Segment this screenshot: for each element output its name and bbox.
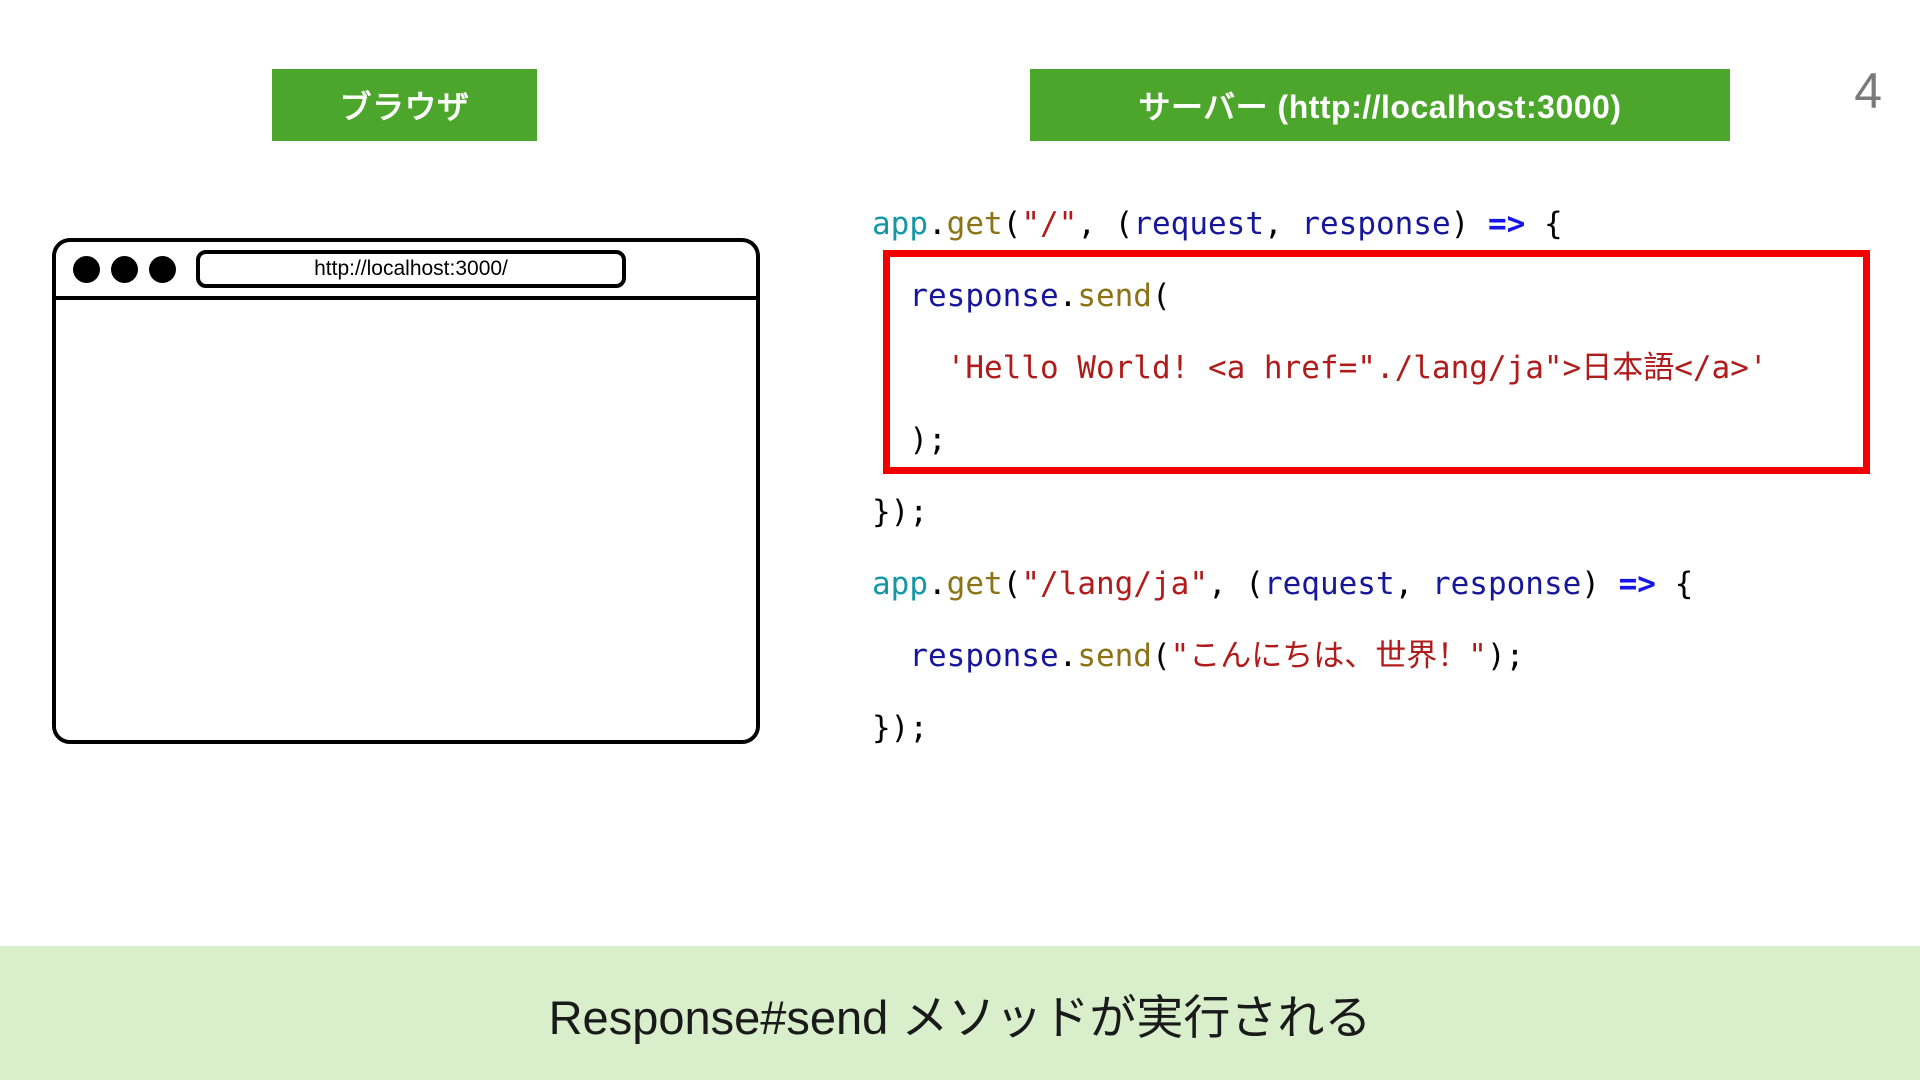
code-token: request: [1133, 206, 1264, 242]
code-token: .: [1059, 278, 1078, 314]
close-dot-icon[interactable]: [73, 256, 100, 283]
code-token: 'Hello World! <a href="./lang/ja">日本語</a…: [947, 350, 1768, 386]
code-token: ): [1581, 566, 1618, 602]
address-bar-value: http://localhost:3000/: [314, 257, 508, 281]
code-token: response: [1301, 206, 1450, 242]
code-token: "/": [1021, 206, 1077, 242]
code-line: });: [872, 476, 1882, 548]
code-line: app.get("/lang/ja", (request, response) …: [872, 548, 1882, 620]
code-line: response.send("こんにちは、世界！");: [872, 620, 1882, 692]
code-token: =>: [1619, 566, 1656, 602]
code-line: });: [872, 692, 1882, 764]
browser-window-mockup: http://localhost:3000/: [52, 238, 760, 744]
minimize-dot-icon[interactable]: [111, 256, 138, 283]
code-token: (: [1003, 566, 1022, 602]
server-code-block: app.get("/", (request, response) => { re…: [872, 188, 1882, 764]
code-token: response: [1432, 566, 1581, 602]
code-token: [872, 350, 947, 386]
code-token: ,: [1395, 566, 1432, 602]
address-bar[interactable]: http://localhost:3000/: [196, 250, 626, 288]
browser-titlebar: http://localhost:3000/: [56, 242, 756, 300]
code-line: response.send(: [872, 260, 1882, 332]
code-token: get: [947, 566, 1003, 602]
caption-text: Response#send メソッドが実行される: [549, 979, 1372, 1048]
maximize-dot-icon[interactable]: [149, 256, 176, 283]
code-token: (: [1003, 206, 1022, 242]
code-token: app: [872, 566, 928, 602]
code-token: (: [1152, 278, 1171, 314]
code-token: ): [1451, 206, 1488, 242]
browser-column-header-label: ブラウザ: [339, 82, 469, 128]
code-token: );: [872, 422, 947, 458]
code-token: });: [872, 494, 928, 530]
code-token: {: [1525, 206, 1562, 242]
code-token: get: [947, 206, 1003, 242]
code-token: ,: [1264, 206, 1301, 242]
code-token: });: [872, 710, 928, 746]
code-token: [872, 638, 909, 674]
browser-column-header: ブラウザ: [272, 69, 537, 141]
browser-viewport: [56, 300, 756, 740]
code-token: {: [1656, 566, 1693, 602]
code-token: (: [1152, 638, 1171, 674]
code-token: "/lang/ja": [1021, 566, 1208, 602]
code-token: app: [872, 206, 928, 242]
code-token: , (: [1077, 206, 1133, 242]
code-token: .: [928, 566, 947, 602]
code-token: send: [1077, 638, 1152, 674]
code-token: );: [1487, 638, 1524, 674]
server-column-header-label: サーバー (http://localhost:3000): [1138, 82, 1621, 128]
window-controls: [73, 256, 176, 283]
code-line: app.get("/", (request, response) => {: [872, 188, 1882, 260]
code-token: .: [928, 206, 947, 242]
code-token: [872, 278, 909, 314]
code-token: send: [1077, 278, 1152, 314]
code-token: .: [1059, 638, 1078, 674]
code-token: request: [1264, 566, 1395, 602]
code-line: 'Hello World! <a href="./lang/ja">日本語</a…: [872, 332, 1882, 404]
code-token: , (: [1208, 566, 1264, 602]
page-number: 4: [1854, 62, 1882, 120]
code-token: response: [909, 638, 1058, 674]
server-column-header: サーバー (http://localhost:3000): [1030, 69, 1730, 141]
caption-band: Response#send メソッドが実行される: [0, 946, 1920, 1080]
code-token: "こんにちは、世界！": [1171, 638, 1487, 674]
code-token: =>: [1488, 206, 1525, 242]
code-line: );: [872, 404, 1882, 476]
code-token: response: [909, 278, 1058, 314]
